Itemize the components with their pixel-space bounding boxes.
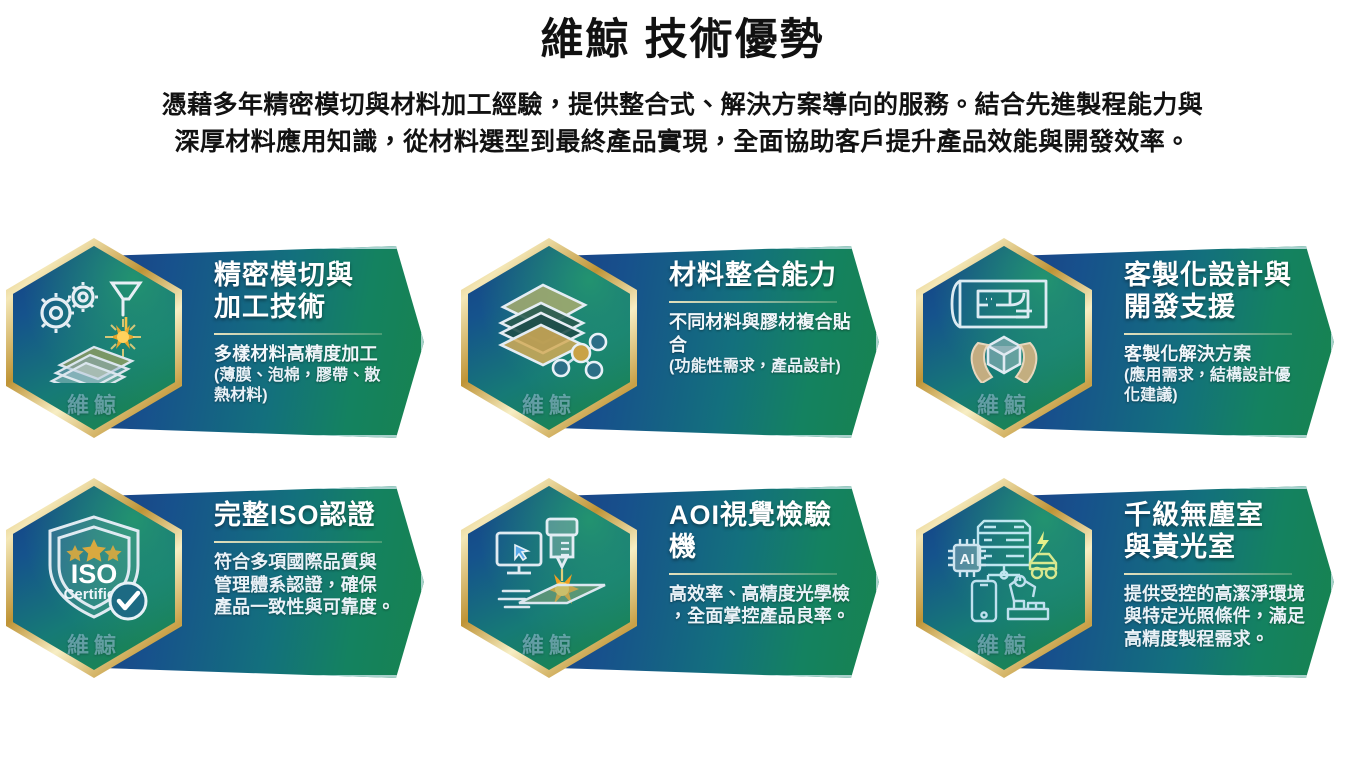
advantage-card-aoi-inspection[interactable]: 維鯨 AOI視覺檢驗 機 高效率、高精度光學檢 ，全面掌控產品良率。 — [455, 478, 910, 718]
card-note-line-1: (功能性需求，產品設計) — [669, 357, 865, 377]
card-divider — [214, 333, 382, 335]
advantage-card-custom-design[interactable]: 維鯨 客製化設計與 開發支援 客製化解決方案 (應用需求，結構設計優 化建議) — [910, 238, 1365, 478]
card-title: 完整ISO認證 — [214, 500, 410, 532]
card-icon-hexagon: ISO Certified 維鯨 — [6, 478, 182, 678]
card-note-line-1: 符合多項國際品質與 — [214, 551, 410, 574]
card-divider — [669, 573, 837, 575]
card-text-block: AOI視覺檢驗 機 高效率、高精度光學檢 ，全面掌控產品良率。 — [669, 500, 865, 628]
advantage-card-precision-die-cutting[interactable]: 維鯨 精密模切與 加工技術 多樣材料高精度加工 (薄膜、泡棉，膠帶、散 熱材料) — [0, 238, 455, 478]
card-title: 精密模切與 加工技術 — [214, 260, 410, 324]
card-description: 客製化解決方案 — [1124, 343, 1320, 366]
page-title: 維鯨 技術優勢 — [0, 16, 1365, 65]
card-title-line-1: 精密模切與 — [214, 260, 410, 292]
blueprint-hands-cube-icon — [944, 271, 1064, 383]
card-note: (薄膜、泡棉，膠帶、散 熱材料) — [214, 366, 410, 406]
page-subtitle-line-1: 憑藉多年精密模切與材料加工經驗，提供整合式、解決方案導向的服務。結合先進製程能力… — [83, 87, 1283, 123]
iso-certified-shield-icon: ISO Certified — [34, 511, 154, 623]
card-icon-hexagon: 維鯨 — [6, 238, 182, 438]
card-note-line-2: 熱材料) — [214, 386, 410, 406]
cleanroom-electronics-icon: AI — [944, 511, 1064, 623]
card-icon-hexagon: 維鯨 — [461, 478, 637, 678]
card-note-line-2: 管理體系認證，確保 — [214, 574, 410, 597]
card-text-block: 千級無塵室 與黃光室 提供受控的高潔淨環境 與特定光照條件，滿足 高精度製程需求… — [1124, 500, 1320, 651]
card-text-block: 客製化設計與 開發支援 客製化解決方案 (應用需求，結構設計優 化建議) — [1124, 260, 1320, 406]
card-icon-hexagon: AI — [916, 478, 1092, 678]
card-note-line-2: 與特定光照條件，滿足 — [1124, 605, 1320, 628]
card-description: 不同材料與膠材複合貼合 — [669, 311, 865, 357]
advantage-card-iso-certification[interactable]: ISO Certified 維鯨 完整ISO認證 符合多項國際品質與 — [0, 478, 455, 718]
card-note: (功能性需求，產品設計) — [669, 357, 865, 377]
card-divider — [1124, 333, 1292, 335]
card-note-line-1: 提供受控的高潔淨環境 — [1124, 583, 1320, 606]
card-title-line-1: AOI視覺檢驗 — [669, 500, 865, 532]
die-cutting-laser-icon — [34, 271, 154, 383]
card-title: 客製化設計與 開發支援 — [1124, 260, 1320, 324]
card-note-line-3: 產品一致性與可靠度。 — [214, 596, 410, 619]
card-note-line-1: 高效率、高精度光學檢 — [669, 583, 865, 606]
card-title: 千級無塵室 與黃光室 — [1124, 500, 1320, 564]
page-subtitle-line-2: 深厚材料應用知識，從材料選型到最終產品實現，全面協助客戶提升產品效能與開發效率。 — [83, 124, 1283, 160]
card-title-line-1: 材料整合能力 — [669, 260, 865, 292]
card-divider — [214, 541, 382, 543]
card-description: 多樣材料高精度加工 — [214, 343, 410, 366]
page-subtitle: 憑藉多年精密模切與材料加工經驗，提供整合式、解決方案導向的服務。結合先進製程能力… — [83, 87, 1283, 160]
card-title-line-1: 完整ISO認證 — [214, 500, 410, 532]
card-note: 提供受控的高潔淨環境 與特定光照條件，滿足 高精度製程需求。 — [1124, 583, 1320, 651]
card-title-line-1: 客製化設計與 — [1124, 260, 1320, 292]
card-divider — [1124, 573, 1292, 575]
card-title-line-1: 千級無塵室 — [1124, 500, 1320, 532]
card-text-block: 完整ISO認證 符合多項國際品質與 管理體系認證，確保 產品一致性與可靠度。 — [214, 500, 410, 619]
iso-label: ISO — [71, 559, 118, 589]
card-icon-hexagon: 維鯨 — [916, 238, 1092, 438]
card-text-block: 材料整合能力 不同材料與膠材複合貼合 (功能性需求，產品設計) — [669, 260, 865, 377]
card-text-block: 精密模切與 加工技術 多樣材料高精度加工 (薄膜、泡棉，膠帶、散 熱材料) — [214, 260, 410, 406]
card-note-line-1: (應用需求，結構設計優 — [1124, 366, 1320, 386]
card-note-line-1: (薄膜、泡棉，膠帶、散 — [214, 366, 410, 386]
card-icon-hexagon: 維鯨 — [461, 238, 637, 438]
material-layers-molecule-icon — [489, 271, 609, 383]
card-divider — [669, 301, 837, 303]
advantage-cards-grid: 維鯨 精密模切與 加工技術 多樣材料高精度加工 (薄膜、泡棉，膠帶、散 熱材料) — [0, 238, 1365, 718]
ai-chip-label: AI — [960, 551, 975, 568]
card-note: 高效率、高精度光學檢 ，全面掌控產品良率。 — [669, 583, 865, 628]
card-title-line-2: 開發支援 — [1124, 292, 1320, 324]
card-note-line-2: ，全面掌控產品良率。 — [669, 605, 865, 628]
card-note: (應用需求，結構設計優 化建議) — [1124, 366, 1320, 406]
card-note-line-3: 高精度製程需求。 — [1124, 628, 1320, 651]
advantage-card-material-integration[interactable]: 維鯨 材料整合能力 不同材料與膠材複合貼合 (功能性需求，產品設計) — [455, 238, 910, 478]
card-title: 材料整合能力 — [669, 260, 865, 292]
card-title-line-2: 與黃光室 — [1124, 532, 1320, 564]
card-note: 符合多項國際品質與 管理體系認證，確保 產品一致性與可靠度。 — [214, 551, 410, 619]
advantage-card-cleanroom[interactable]: AI — [910, 478, 1365, 718]
aoi-inspection-machine-icon — [489, 511, 609, 623]
card-note-line-2: 化建議) — [1124, 386, 1320, 406]
card-title-line-2: 加工技術 — [214, 292, 410, 324]
card-title: AOI視覺檢驗 機 — [669, 500, 865, 564]
card-title-line-2: 機 — [669, 532, 865, 564]
